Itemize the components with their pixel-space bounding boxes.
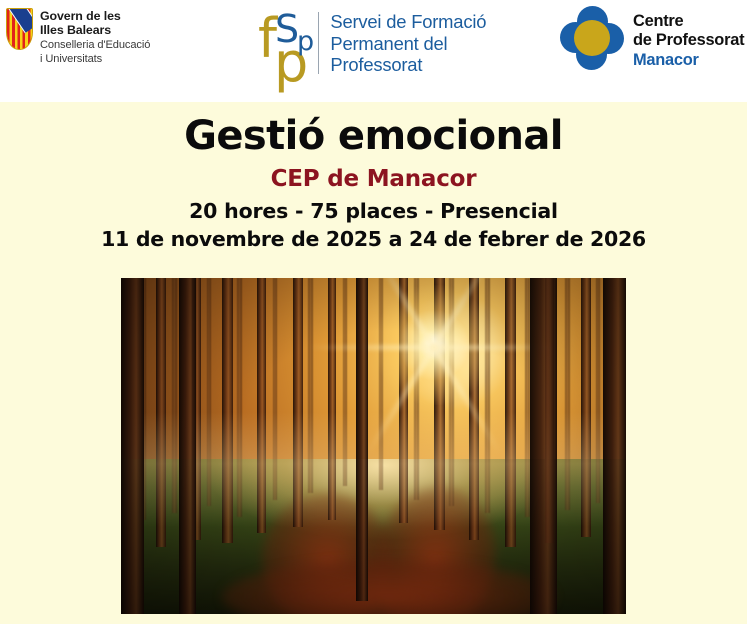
photo-tree-trunk	[257, 278, 266, 533]
fsp-line-1: Servei de Formació	[330, 11, 486, 33]
photo-tree-trunk	[485, 278, 491, 513]
govern-line-1: Govern de les	[40, 9, 150, 23]
govern-line-3: Conselleria d'Educació	[40, 39, 150, 52]
photo-tree-trunk	[273, 278, 278, 500]
photo-tree-trunk	[525, 278, 530, 517]
photo-tree-trunk	[156, 278, 166, 547]
pinwheel-center-circle	[574, 20, 610, 56]
cep-line-3: Manacor	[633, 50, 744, 70]
photo-canvas	[121, 278, 626, 614]
fsp-letter-s: S	[275, 10, 299, 48]
govern-line-2: Illes Balears	[40, 23, 150, 37]
cep-pinwheel-icon	[560, 6, 624, 70]
govern-line-4: i Universitats	[40, 53, 150, 66]
photo-tree-trunk	[596, 278, 601, 503]
photo-tree-trunk	[379, 278, 384, 490]
photo-tree-trunk	[581, 278, 591, 537]
photo-tree-trunk	[222, 278, 233, 543]
photo-tree-trunk-foreground	[121, 278, 144, 614]
photo-tree-trunk-foreground	[603, 278, 626, 614]
photo-tree-trunk	[505, 278, 516, 547]
cep-logo-text: Centre de Professorat Manacor	[633, 6, 744, 70]
course-poster: Govern de les Illes Balears Conselleria …	[0, 0, 747, 624]
course-dates: 11 de novembre de 2025 a 24 de febrer de…	[0, 225, 747, 253]
govern-illes-balears-logo: Govern de les Illes Balears Conselleria …	[6, 8, 150, 66]
photo-tree-trunk-foreground	[179, 278, 196, 614]
cep-line-2: de Professorat	[633, 31, 744, 50]
photo-tree-trunk	[293, 278, 303, 527]
header-logos-bar: Govern de les Illes Balears Conselleria …	[0, 0, 747, 102]
forest-sunrise-photo	[121, 278, 626, 614]
fsp-divider	[318, 12, 319, 74]
photo-tree-trunk	[434, 278, 445, 530]
photo-tree-trunk	[565, 278, 570, 510]
photo-tree-trunk-foreground	[356, 278, 368, 601]
photo-tree-trunk	[237, 278, 242, 517]
cep-manacor-logo: Centre de Professorat Manacor	[560, 6, 744, 70]
photo-tree-trunk	[172, 278, 178, 513]
fsp-logo: f p S p Servei de Formació Permanent del…	[258, 6, 486, 78]
govern-logo-text: Govern de les Illes Balears Conselleria …	[40, 8, 150, 66]
photo-tree-trunk-foreground	[530, 278, 557, 614]
page-title: Gestió emocional	[0, 113, 747, 159]
course-center-name: CEP de Manacor	[0, 159, 747, 193]
fsp-line-2: Permanent del	[330, 33, 486, 55]
photo-tree-trunk	[328, 278, 336, 520]
photo-tree-trunk	[207, 278, 211, 506]
fsp-line-3: Professorat	[330, 54, 486, 76]
fsp-monogram-icon: f p S p	[258, 6, 316, 78]
course-details: 20 hores - 75 places - Presencial	[0, 193, 747, 225]
photo-tree-trunk	[343, 278, 347, 486]
fsp-letter-p-blue: p	[297, 28, 314, 55]
cep-line-1: Centre	[633, 12, 744, 31]
fsp-logo-text: Servei de Formació Permanent del Profess…	[330, 6, 486, 76]
photo-tree-trunk	[308, 278, 313, 493]
balearic-shield-icon	[6, 8, 33, 50]
course-title-block: Gestió emocional CEP de Manacor 20 hores…	[0, 102, 747, 253]
